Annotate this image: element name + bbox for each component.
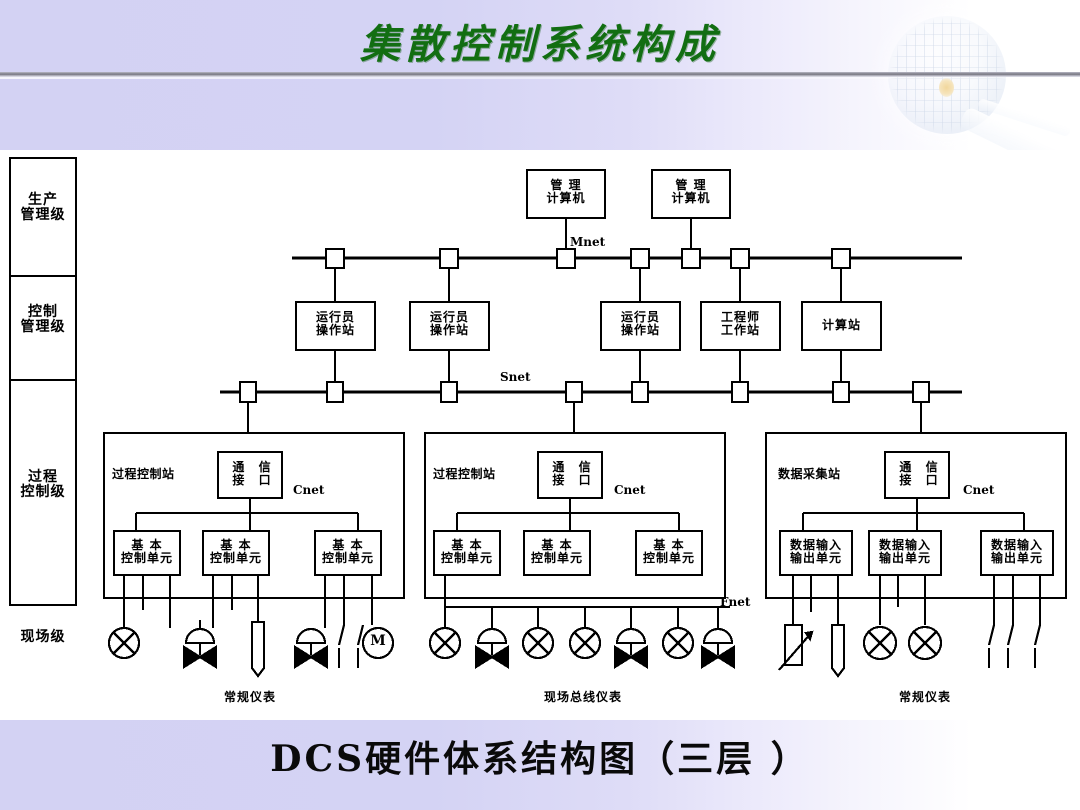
slide-caption: DCS硬件体系结构图（三层 ） [0, 730, 1080, 782]
dcs-architecture-diagram [0, 0, 1080, 810]
slide-root: 集散控制系统构成 [0, 0, 1080, 810]
page-title: 集散控制系统构成 [0, 12, 1080, 70]
